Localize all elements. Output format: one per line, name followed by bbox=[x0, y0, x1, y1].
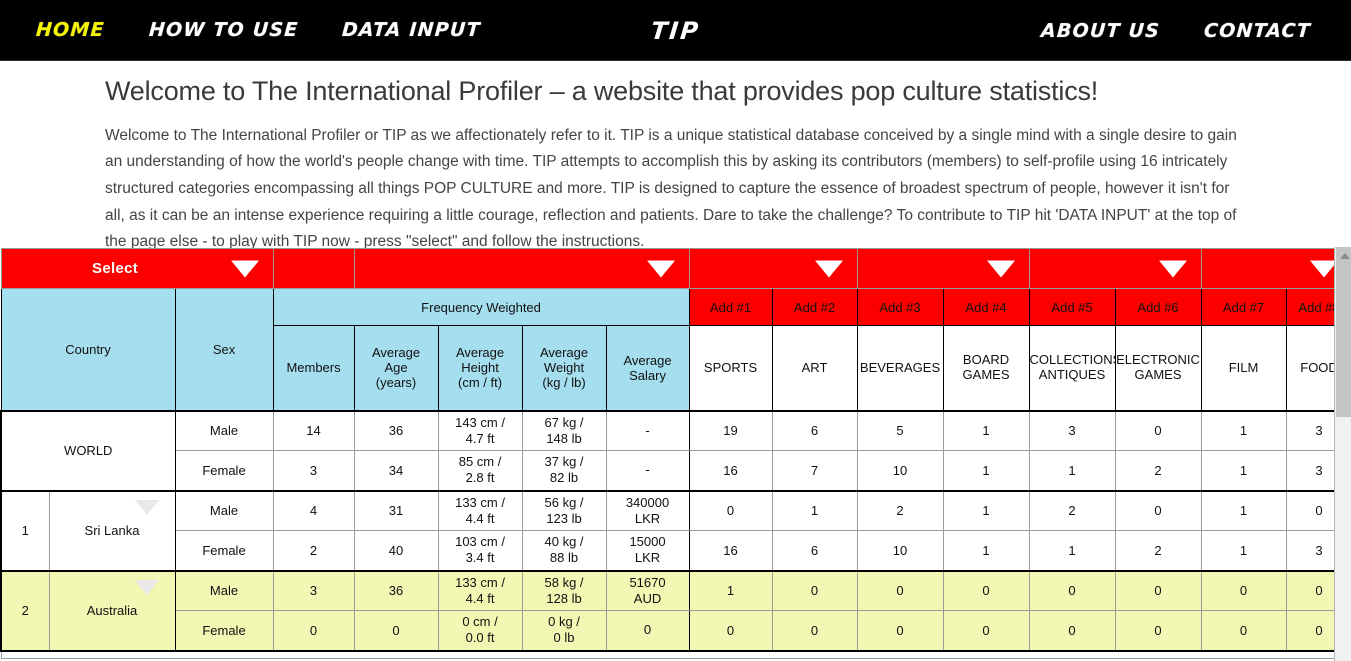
cell-add-2: 7 bbox=[772, 451, 857, 491]
cell-average-salary: 340000 LKR bbox=[606, 491, 689, 531]
cell-add-1: 16 bbox=[689, 531, 772, 571]
cell-add-2: 1 bbox=[772, 491, 857, 531]
header-add-1[interactable]: Add #1 bbox=[689, 289, 772, 326]
cell-average-weight: 37 kg / 82 lb bbox=[522, 451, 606, 491]
chevron-down-icon bbox=[1159, 260, 1187, 277]
cell-add-4: 1 bbox=[943, 531, 1029, 571]
cell-add-6: 0 bbox=[1115, 411, 1201, 451]
country-name: Australia bbox=[87, 603, 138, 618]
nav-link-home[interactable]: HOME bbox=[13, 19, 127, 41]
cell-average-weight: 58 kg / 128 lb bbox=[522, 571, 606, 611]
cell-add-7: 0 bbox=[1201, 611, 1286, 651]
table-row-partial-cell bbox=[1, 651, 1351, 659]
category-add-5: COLLECTIONS ANTIQUES bbox=[1029, 326, 1115, 411]
category-add-7: FILM bbox=[1201, 326, 1286, 411]
header-sex[interactable]: Sex bbox=[175, 289, 273, 411]
cell-add-7: 1 bbox=[1201, 451, 1286, 491]
cell-average-salary: 15000 LKR bbox=[606, 531, 689, 571]
cell-average-salary: - bbox=[606, 451, 689, 491]
cell-average-age: 36 bbox=[354, 411, 438, 451]
cell-average-age: 0 bbox=[354, 611, 438, 651]
nav-link-how-to-use[interactable]: HOW TO USE bbox=[126, 19, 321, 41]
cell-add-2: 0 bbox=[772, 571, 857, 611]
header-add-4[interactable]: Add #4 bbox=[943, 289, 1029, 326]
cell-add-3: 2 bbox=[857, 491, 943, 531]
cell-average-weight: 0 kg / 0 lb bbox=[522, 611, 606, 651]
cell-add-1: 0 bbox=[689, 491, 772, 531]
cell-add-3: 0 bbox=[857, 571, 943, 611]
cell-add-6: 0 bbox=[1115, 491, 1201, 531]
intro-paragraph: Welcome to The International Profiler or… bbox=[105, 123, 1245, 256]
cell-average-salary: - bbox=[606, 411, 689, 451]
header-average-age-l1: Average bbox=[355, 345, 438, 360]
chevron-down-icon bbox=[815, 260, 843, 277]
cell-add-5: 1 bbox=[1029, 531, 1115, 571]
table-row-partial bbox=[1, 651, 1351, 659]
row-country-cell[interactable]: Sri Lanka bbox=[49, 491, 175, 571]
select-dropdown-add-1-2[interactable] bbox=[689, 249, 857, 289]
select-dropdown-add-3-4[interactable] bbox=[857, 249, 1029, 289]
category-add-3: BEVERAGES bbox=[857, 326, 943, 411]
header-average-height[interactable]: Average Height (cm / ft) bbox=[438, 326, 522, 411]
cell-add-7: 1 bbox=[1201, 411, 1286, 451]
cell-members: 2 bbox=[273, 531, 354, 571]
header-add-5[interactable]: Add #5 bbox=[1029, 289, 1115, 326]
cell-members: 3 bbox=[273, 451, 354, 491]
table-row[interactable]: WORLD Male 14 36 143 cm / 4.7 ft 67 kg /… bbox=[1, 411, 1351, 451]
cell-add-7: 1 bbox=[1201, 531, 1286, 571]
row-country-cell[interactable]: Australia bbox=[49, 571, 175, 651]
select-bar-spacer bbox=[273, 249, 354, 289]
cell-average-weight: 40 kg / 88 lb bbox=[522, 531, 606, 571]
cell-average-weight: 56 kg / 123 lb bbox=[522, 491, 606, 531]
cell-average-height: 85 cm / 2.8 ft bbox=[438, 451, 522, 491]
select-bar-row: Select bbox=[1, 249, 1351, 289]
header-average-weight-l1: Average bbox=[523, 345, 606, 360]
cell-add-5: 1 bbox=[1029, 451, 1115, 491]
cell-add-1: 19 bbox=[689, 411, 772, 451]
chevron-down-icon bbox=[647, 260, 675, 277]
header-average-salary-l2: Salary bbox=[607, 368, 689, 383]
header-average-age-l3: (years) bbox=[355, 375, 438, 390]
brand-text: TIP bbox=[650, 17, 702, 45]
cell-add-1: 0 bbox=[689, 611, 772, 651]
header-average-weight[interactable]: Average Weight (kg / lb) bbox=[522, 326, 606, 411]
cell-average-age: 31 bbox=[354, 491, 438, 531]
cell-add-2: 0 bbox=[772, 611, 857, 651]
chevron-down-icon[interactable] bbox=[135, 500, 159, 515]
select-dropdown-add-7-8[interactable] bbox=[1201, 249, 1351, 289]
cell-add-6: 0 bbox=[1115, 571, 1201, 611]
category-add-6: ELECTRONIC GAMES bbox=[1115, 326, 1201, 411]
header-add-7[interactable]: Add #7 bbox=[1201, 289, 1286, 326]
cell-sex: Male bbox=[175, 411, 273, 451]
cell-members: 4 bbox=[273, 491, 354, 531]
header-country[interactable]: Country bbox=[1, 289, 175, 411]
select-dropdown-add-5-6[interactable] bbox=[1029, 249, 1201, 289]
cell-members: 14 bbox=[273, 411, 354, 451]
cell-add-6: 0 bbox=[1115, 611, 1201, 651]
cell-add-6: 2 bbox=[1115, 451, 1201, 491]
nav-right-group: ABOUT US CONTACT bbox=[1019, 0, 1333, 61]
category-add-2: ART bbox=[772, 326, 857, 411]
table-row[interactable]: Female 2 40 103 cm / 3.4 ft 40 kg / 88 l… bbox=[1, 531, 1351, 571]
header-frequency-weighted: Frequency Weighted bbox=[273, 289, 689, 326]
intro-section: Welcome to The International Profiler – … bbox=[0, 61, 1351, 256]
category-add-4: BOARD GAMES bbox=[943, 326, 1029, 411]
cell-add-5: 2 bbox=[1029, 491, 1115, 531]
cell-add-4: 1 bbox=[943, 491, 1029, 531]
scrollbar-thumb[interactable] bbox=[1336, 247, 1351, 417]
cell-average-height: 103 cm / 3.4 ft bbox=[438, 531, 522, 571]
cell-add-4: 0 bbox=[943, 571, 1029, 611]
chevron-up-icon[interactable] bbox=[1340, 253, 1350, 259]
header-average-height-l3: (cm / ft) bbox=[439, 375, 522, 390]
row-index: 1 bbox=[1, 491, 49, 571]
cell-average-age: 36 bbox=[354, 571, 438, 611]
chevron-down-icon bbox=[987, 260, 1015, 277]
select-label: Select bbox=[92, 260, 138, 277]
table-row[interactable]: 2 Australia Male 3 36 133 cm / 4.4 ft 58… bbox=[1, 571, 1351, 611]
header-average-salary-l1: Average bbox=[607, 353, 689, 368]
cell-sex: Female bbox=[175, 611, 273, 651]
select-dropdown-metrics[interactable] bbox=[354, 249, 689, 289]
nav-left-group: HOME HOW TO USE DATA INPUT bbox=[0, 19, 503, 41]
cell-add-4: 1 bbox=[943, 451, 1029, 491]
row-country-cell[interactable]: WORLD bbox=[1, 411, 175, 491]
cell-add-4: 0 bbox=[943, 611, 1029, 651]
cell-sex: Male bbox=[175, 491, 273, 531]
nav-link-data-input[interactable]: DATA INPUT bbox=[319, 19, 503, 41]
header-add-6[interactable]: Add #6 bbox=[1115, 289, 1201, 326]
table-vertical-scrollbar[interactable] bbox=[1334, 247, 1351, 661]
cell-average-height: 143 cm / 4.7 ft bbox=[438, 411, 522, 451]
country-name: WORLD bbox=[64, 443, 112, 458]
cell-add-5: 3 bbox=[1029, 411, 1115, 451]
cell-add-3: 10 bbox=[857, 531, 943, 571]
header-average-height-l2: Height bbox=[439, 360, 522, 375]
header-members[interactable]: Members bbox=[273, 326, 354, 411]
category-add-1: SPORTS bbox=[689, 326, 772, 411]
row-index: 2 bbox=[1, 571, 49, 651]
cell-average-height: 0 cm / 0.0 ft bbox=[438, 611, 522, 651]
header-average-weight-l3: (kg / lb) bbox=[523, 375, 606, 390]
nav-link-contact[interactable]: CONTACT bbox=[1181, 20, 1333, 42]
table-row[interactable]: Female 3 34 85 cm / 2.8 ft 37 kg / 82 lb… bbox=[1, 451, 1351, 491]
select-dropdown-country[interactable]: Select bbox=[1, 249, 273, 289]
cell-members: 3 bbox=[273, 571, 354, 611]
cell-add-7: 1 bbox=[1201, 491, 1286, 531]
header-average-weight-l2: Weight bbox=[523, 360, 606, 375]
cell-add-2: 6 bbox=[772, 411, 857, 451]
statistics-table: Select Country Sex Frequency Weighted Ad… bbox=[0, 248, 1351, 659]
chevron-down-icon[interactable] bbox=[135, 580, 159, 595]
header-average-salary[interactable]: Average Salary bbox=[606, 326, 689, 411]
cell-average-age: 40 bbox=[354, 531, 438, 571]
cell-average-height: 133 cm / 4.4 ft bbox=[438, 491, 522, 531]
header-average-height-l1: Average bbox=[439, 345, 522, 360]
cell-average-age: 34 bbox=[354, 451, 438, 491]
cell-average-salary: 0 bbox=[606, 611, 689, 651]
header-add-2[interactable]: Add #2 bbox=[772, 289, 857, 326]
cell-add-1: 16 bbox=[689, 451, 772, 491]
cell-add-5: 0 bbox=[1029, 571, 1115, 611]
cell-sex: Male bbox=[175, 571, 273, 611]
cell-sex: Female bbox=[175, 451, 273, 491]
cell-add-3: 5 bbox=[857, 411, 943, 451]
header-average-age-l2: Age bbox=[355, 360, 438, 375]
header-average-age[interactable]: Average Age (years) bbox=[354, 326, 438, 411]
statistics-table-container: Select Country Sex Frequency Weighted Ad… bbox=[0, 248, 1351, 661]
cell-average-weight: 67 kg / 148 lb bbox=[522, 411, 606, 451]
cell-add-1: 1 bbox=[689, 571, 772, 611]
cell-add-3: 10 bbox=[857, 451, 943, 491]
page-title: Welcome to The International Profiler – … bbox=[105, 75, 1246, 109]
cell-add-4: 1 bbox=[943, 411, 1029, 451]
cell-add-7: 0 bbox=[1201, 571, 1286, 611]
cell-average-salary: 51670 AUD bbox=[606, 571, 689, 611]
table-row[interactable]: 1 Sri Lanka Male 4 31 133 cm / 4.4 ft 56… bbox=[1, 491, 1351, 531]
cell-add-2: 6 bbox=[772, 531, 857, 571]
cell-average-height: 133 cm / 4.4 ft bbox=[438, 571, 522, 611]
nav-link-about-us[interactable]: ABOUT US bbox=[1018, 20, 1183, 42]
country-name: Sri Lanka bbox=[85, 523, 140, 538]
header-add-3[interactable]: Add #3 bbox=[857, 289, 943, 326]
header-row-group: Country Sex Frequency Weighted Add #1 Ad… bbox=[1, 289, 1351, 326]
chevron-down-icon bbox=[231, 260, 259, 277]
cell-members: 0 bbox=[273, 611, 354, 651]
cell-add-3: 0 bbox=[857, 611, 943, 651]
cell-add-5: 0 bbox=[1029, 611, 1115, 651]
table-row[interactable]: Female 0 0 0 cm / 0.0 ft 0 kg / 0 lb 0 0… bbox=[1, 611, 1351, 651]
cell-add-6: 2 bbox=[1115, 531, 1201, 571]
top-navbar: HOME HOW TO USE DATA INPUT TIP ABOUT US … bbox=[0, 0, 1351, 61]
cell-sex: Female bbox=[175, 531, 273, 571]
